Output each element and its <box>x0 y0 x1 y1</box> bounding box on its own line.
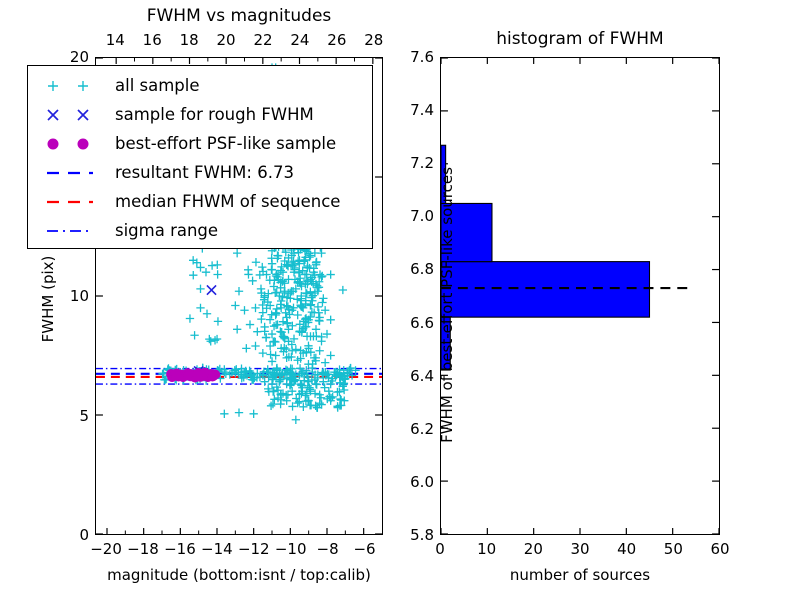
legend-item-label: sigma range <box>111 221 218 240</box>
right-xtick-3: 30 <box>570 540 589 558</box>
legend-item-0[interactable]: all sample <box>28 71 372 100</box>
legend-item-label: median FHWM of sequence <box>111 192 340 211</box>
left-xtick-top-4: 22 <box>253 31 272 49</box>
circle-marker <box>35 133 111 155</box>
right-xtick-5: 50 <box>664 540 683 558</box>
right-xtick-0: 0 <box>435 540 445 558</box>
left-xtick-bottom-0: −20 <box>90 540 122 558</box>
right-xtick-4: 40 <box>617 540 636 558</box>
left-xtick-bottom-4: −12 <box>238 540 270 558</box>
histogram-of-fwhm-axes <box>440 57 720 535</box>
right-xtick-6: 60 <box>710 540 729 558</box>
right-ytick-1: 6.0 <box>388 473 434 491</box>
right-xtick-2: 20 <box>524 540 543 558</box>
left-xtick-bottom-5: −10 <box>275 540 307 558</box>
series-rough-fwhm <box>194 285 216 376</box>
histogram-plot-area <box>441 58 719 534</box>
right-ytick-9: 7.6 <box>388 48 434 66</box>
left-ytick-0: 0 <box>49 526 89 544</box>
series-psf-like <box>167 368 220 382</box>
dashdot-line <box>35 220 111 242</box>
left-xtick-bottom-1: −18 <box>127 540 159 558</box>
left-xaxis-label: magnitude (bottom:isnt / top:calib) <box>95 566 383 584</box>
left-xtick-bottom-3: −14 <box>201 540 233 558</box>
legend-item-label: best-effort PSF-like sample <box>111 134 336 153</box>
legend-item-4[interactable]: median FHWM of sequence <box>28 187 372 216</box>
left-xtick-bottom-2: −16 <box>164 540 196 558</box>
dashed-line <box>35 162 111 184</box>
left-ytick-10: 10 <box>49 287 89 305</box>
left-xtick-top-7: 28 <box>364 31 383 49</box>
right-ytick-4: 6.6 <box>388 314 434 332</box>
left-xtick-top-6: 26 <box>327 31 346 49</box>
legend-box: all samplesample for rough FWHMbest-effo… <box>27 65 373 249</box>
right-ytick-8: 7.4 <box>388 101 434 119</box>
legend-item-label: sample for rough FWHM <box>111 105 314 124</box>
left-xtick-bottom-6: −8 <box>317 540 339 558</box>
left-xtick-top-0: 14 <box>106 31 125 49</box>
left-xtick-top-3: 20 <box>217 31 236 49</box>
right-yaxis-label: FWHM of best-effort PSF-like sources <box>438 165 456 445</box>
plus-marker <box>35 75 111 97</box>
left-ytick-5: 5 <box>49 407 89 425</box>
left-xtick-top-2: 18 <box>180 31 199 49</box>
right-ytick-2: 6.2 <box>388 420 434 438</box>
legend-item-3[interactable]: resultant FWHM: 6.73 <box>28 158 372 187</box>
right-ytick-3: 6.4 <box>388 367 434 385</box>
right-panel-title: histogram of FWHM <box>440 29 720 49</box>
left-xtick-top-1: 16 <box>143 31 162 49</box>
left-ytick-20: 20 <box>49 48 89 66</box>
left-xtick-bottom-7: −6 <box>353 540 375 558</box>
legend-item-label: resultant FWHM: 6.73 <box>111 163 294 182</box>
right-ytick-0: 5.8 <box>388 526 434 544</box>
dashed-line <box>35 191 111 213</box>
figure-canvas: FWHM vs magnitudes magnitude (bottom:isn… <box>0 0 800 600</box>
right-xaxis-label: number of sources <box>440 566 720 584</box>
legend-item-1[interactable]: sample for rough FWHM <box>28 100 372 129</box>
histogram-bar <box>441 262 650 318</box>
legend-item-5[interactable]: sigma range <box>28 216 372 245</box>
right-ytick-6: 7.0 <box>388 207 434 225</box>
right-xtick-1: 10 <box>477 540 496 558</box>
cross-marker <box>35 104 111 126</box>
histogram-bars <box>441 145 650 370</box>
legend-item-label: all sample <box>111 76 200 95</box>
legend-item-2[interactable]: best-effort PSF-like sample <box>28 129 372 158</box>
right-ytick-5: 6.8 <box>388 260 434 278</box>
left-panel-title: FWHM vs magnitudes <box>95 6 383 26</box>
left-xtick-top-5: 24 <box>290 31 309 49</box>
right-ytick-7: 7.2 <box>388 154 434 172</box>
